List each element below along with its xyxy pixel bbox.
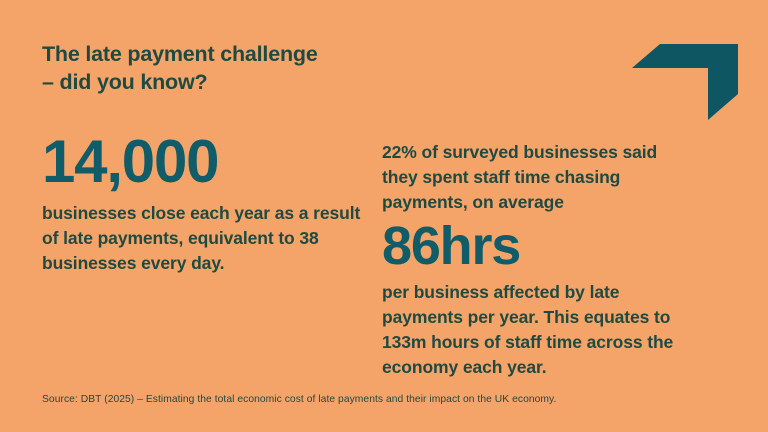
stat-left-figure: 14,000 (42, 132, 362, 192)
stat-right-figure: 86hrs (382, 219, 692, 273)
stat-block-left: 14,000 businesses close each year as a r… (42, 132, 362, 276)
infographic-poster: The late payment challenge – did you kno… (0, 0, 768, 432)
arrow-up-right-chevron-icon (630, 28, 746, 120)
stat-left-description-wrap: businesses close each year as a result o… (42, 201, 362, 276)
stat-right-lead: 22% of surveyed businesses said they spe… (382, 140, 692, 215)
stat-right-description: per business affected by late payments p… (382, 280, 692, 380)
page-title-line-1: The late payment challenge (42, 40, 462, 68)
page-title-line-2: – did you know? (42, 68, 462, 96)
page-title: The late payment challenge – did you kno… (42, 40, 462, 96)
stat-left-description: businesses close each year as a result o… (42, 201, 362, 276)
source-citation: Source: DBT (2025) – Estimating the tota… (42, 394, 556, 405)
stat-block-right: 22% of surveyed businesses said they spe… (382, 140, 692, 380)
stat-right-description-wrap: per business affected by late payments p… (382, 280, 692, 380)
stat-right-lead-wrap: 22% of surveyed businesses said they spe… (382, 140, 692, 215)
